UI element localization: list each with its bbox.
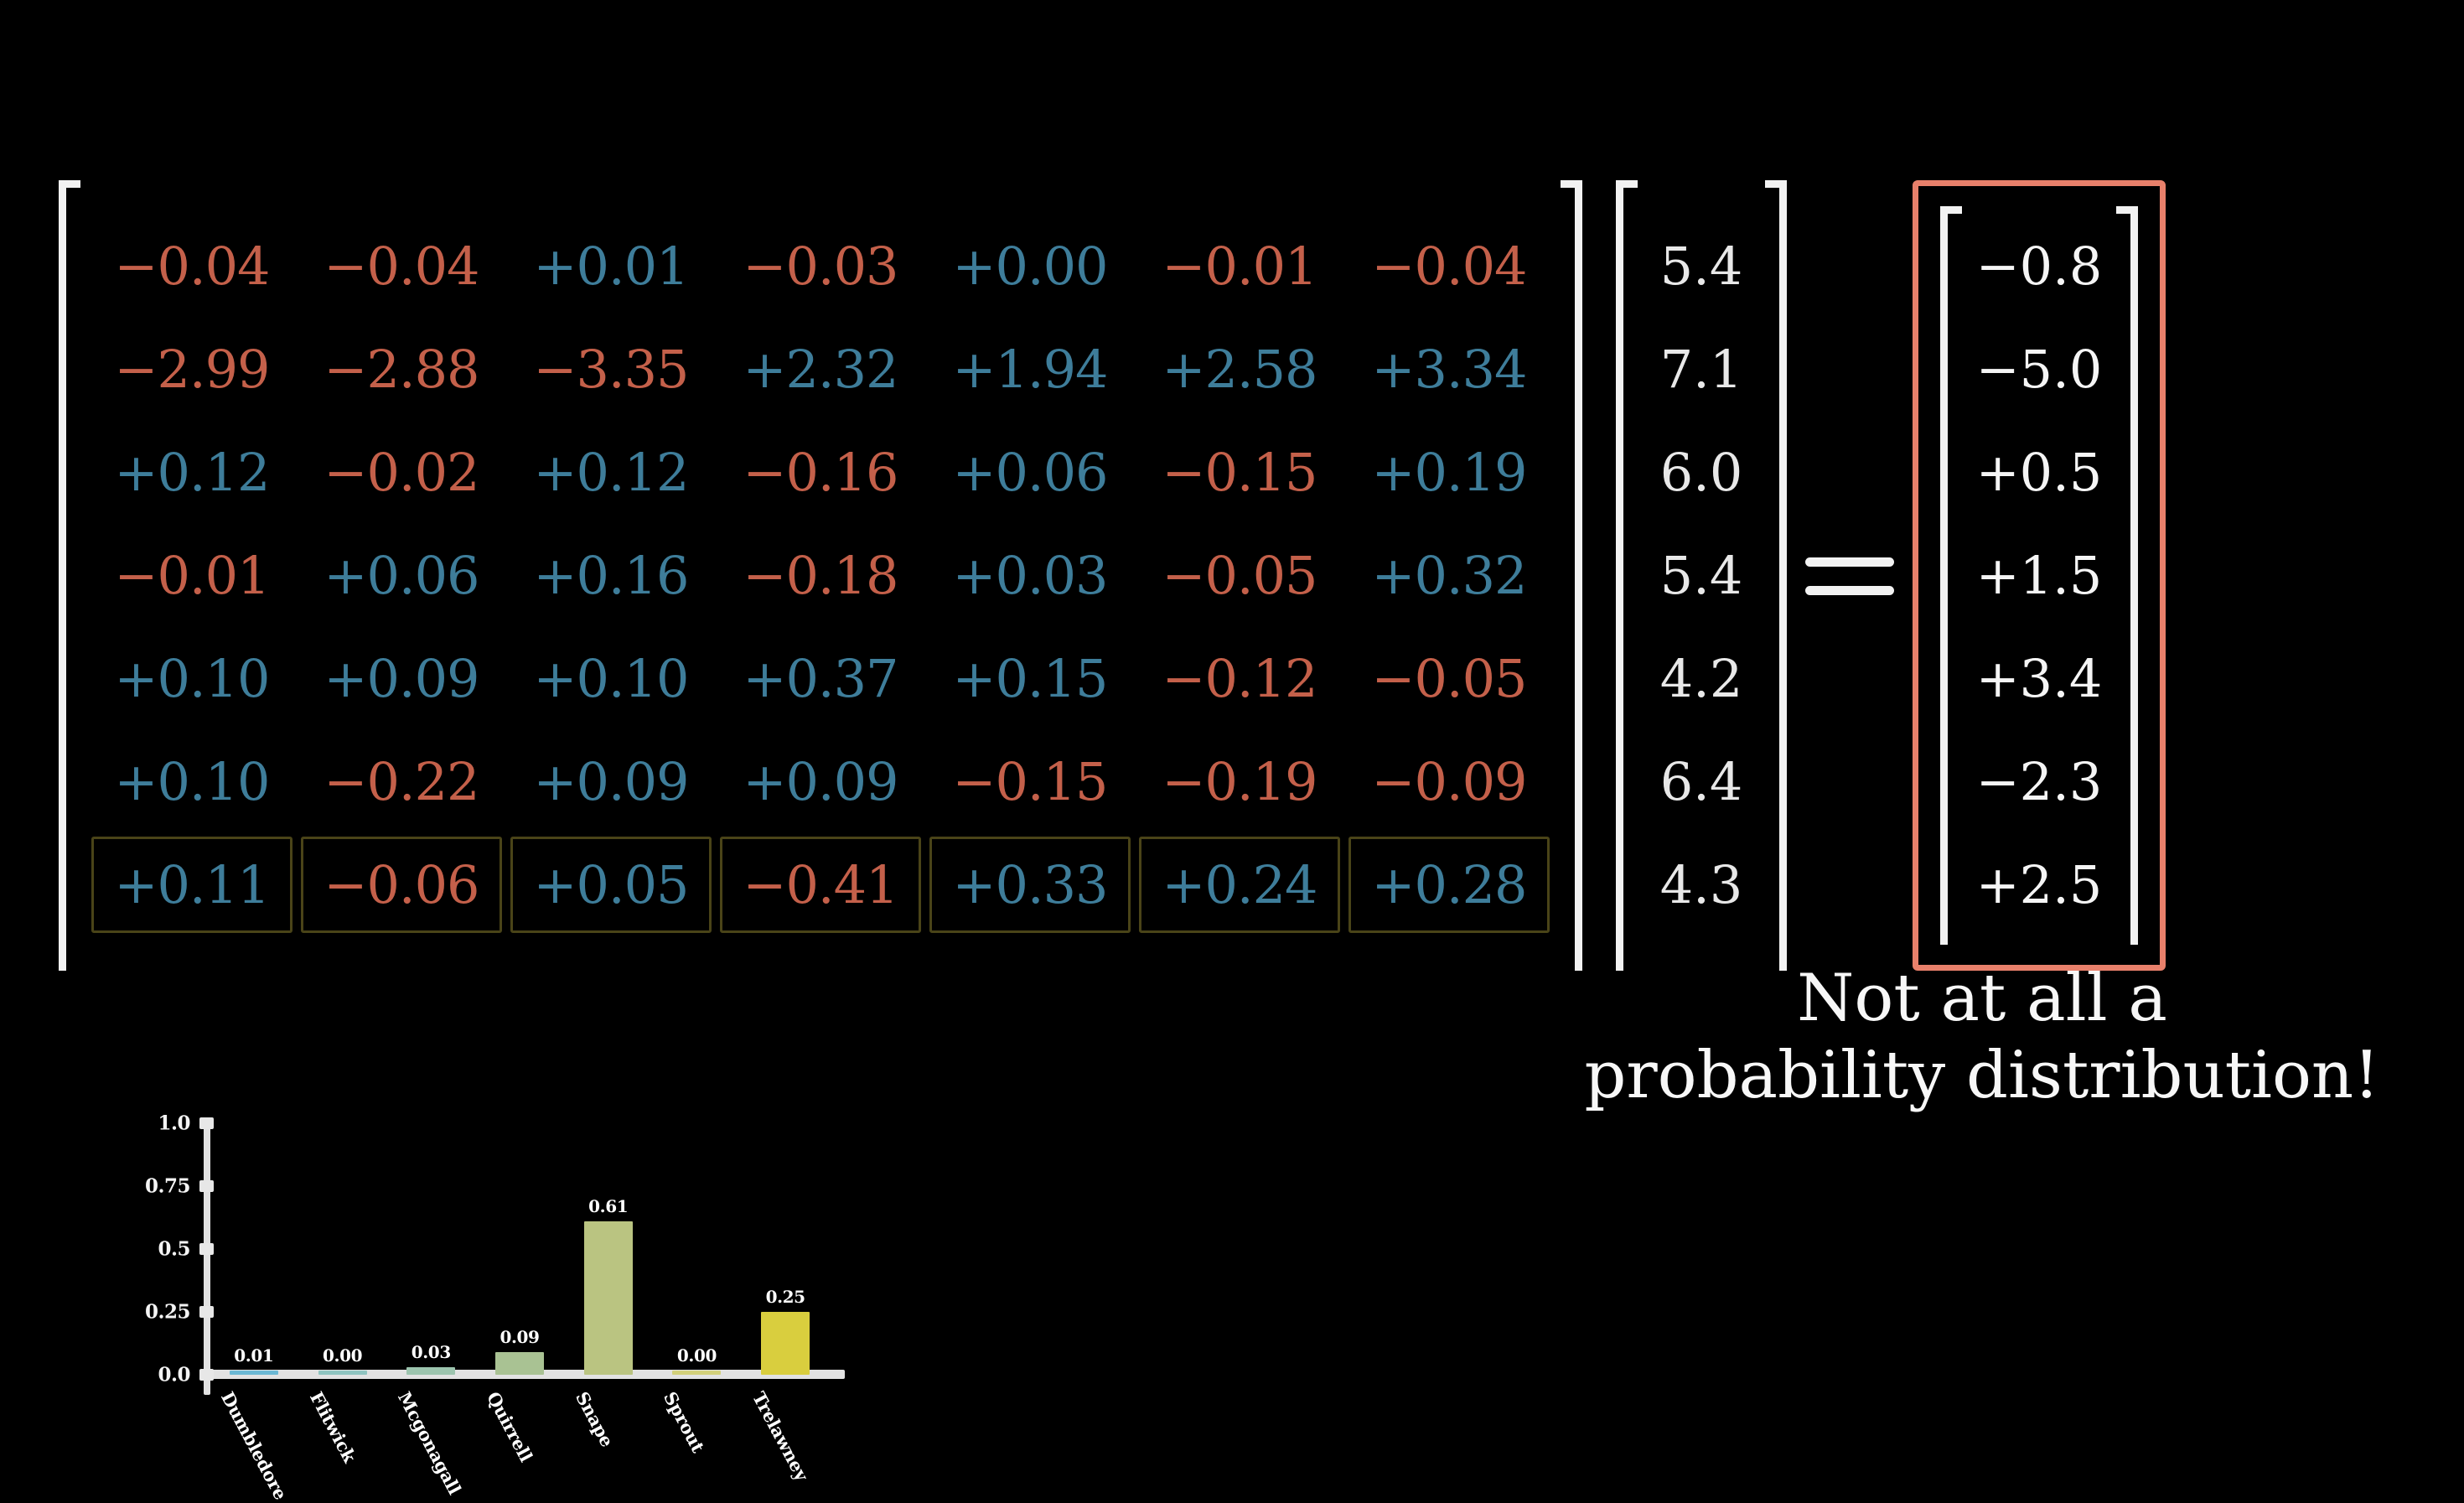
y-axis-label: 0.5: [80, 1238, 190, 1261]
caption-line-2: probability distribution!: [1500, 1037, 2464, 1114]
x-axis-label: Snape: [572, 1388, 618, 1450]
bar: [761, 1312, 810, 1375]
y-axis-tick: [199, 1117, 214, 1129]
matrix-right-bracket: [1561, 180, 1582, 971]
result-vector: −0.8−5.0+0.5+1.5+3.4−2.3+2.5: [1962, 206, 2116, 945]
bar-value-label: 0.09: [482, 1327, 557, 1347]
matrix-cell: +0.15: [925, 627, 1135, 730]
matrix-cell: +1.94: [925, 318, 1135, 421]
probability-bar-chart: 0.00.250.50.751.00.01Dumbledore0.00Flitw…: [80, 1107, 834, 1459]
matrix-cell: −0.15: [1135, 421, 1344, 524]
y-axis-tick: [199, 1180, 214, 1192]
vector-cell: 5.4: [1643, 524, 1760, 627]
result-cell: +1.5: [1967, 524, 2111, 627]
result-cell: +0.5: [1967, 421, 2111, 524]
bar-value-label: 0.00: [659, 1345, 734, 1366]
matrix-cell: −0.22: [297, 730, 506, 833]
matrix-cell: −0.19: [1135, 730, 1344, 833]
vector-left-bracket: [1616, 180, 1638, 971]
bar: [406, 1367, 455, 1375]
caption-line-1: Not at all a: [1500, 960, 2464, 1037]
matrix-cell: +0.19: [1344, 421, 1554, 524]
matrix-cell: −0.16: [716, 421, 925, 524]
equals-bar-top: [1805, 557, 1894, 567]
matrix-cell: +3.34: [1344, 318, 1554, 421]
matrix-cell: +0.01: [506, 215, 716, 318]
matrix-cell: +0.12: [87, 421, 297, 524]
caption: Not at all a probability distribution!: [1500, 960, 2464, 1114]
matrix-cell: −0.04: [87, 215, 297, 318]
matrix-cell: −0.18: [716, 524, 925, 627]
vector-cell: 4.3: [1643, 833, 1760, 936]
y-axis-tick: [199, 1369, 214, 1381]
matrix-cell: −0.02: [297, 421, 506, 524]
vector-right-bracket: [1765, 180, 1787, 971]
matrix-cell: −2.88: [297, 318, 506, 421]
x-axis-label: Mcgonagall: [394, 1388, 465, 1498]
matrix-cell: +0.32: [1344, 524, 1554, 627]
matrix-cell: +2.58: [1135, 318, 1344, 421]
x-axis-label: Dumbledore: [217, 1388, 292, 1503]
matrix-cell: +0.09: [716, 730, 925, 833]
y-axis-tick: [199, 1243, 214, 1255]
matrix-cell: −0.05: [1135, 524, 1344, 627]
result-cell: −5.0: [1967, 318, 2111, 421]
matrix-cell: +0.12: [506, 421, 716, 524]
weight-matrix: −0.04−0.04+0.01−0.03+0.00−0.01−0.04−2.99…: [80, 206, 1561, 945]
x-axis-label: Quirrell: [483, 1388, 537, 1465]
y-axis-label: 0.0: [80, 1364, 190, 1386]
matrix-cell: −0.41: [720, 837, 921, 933]
matrix-cell: +2.32: [716, 318, 925, 421]
vector-cell: 4.2: [1643, 627, 1760, 730]
matrix-cell: +0.06: [297, 524, 506, 627]
matrix-cell: −0.01: [87, 524, 297, 627]
input-vector: 5.47.16.05.44.26.44.3: [1638, 206, 1765, 945]
vector-cell: 6.0: [1643, 421, 1760, 524]
y-axis-tick: [199, 1306, 214, 1318]
matrix-cell: −0.04: [297, 215, 506, 318]
y-axis-label: 0.75: [80, 1175, 190, 1198]
bar: [495, 1352, 544, 1375]
matrix-cell: −0.12: [1135, 627, 1344, 730]
bar-value-label: 0.61: [571, 1196, 646, 1216]
equals-bar-bottom: [1805, 586, 1894, 595]
matrix-cell: −0.01: [1135, 215, 1344, 318]
matrix-cell: +0.09: [297, 627, 506, 730]
matrix-cell: −3.35: [506, 318, 716, 421]
result-right-bracket: [2116, 206, 2138, 945]
matrix-cell: +0.28: [1348, 837, 1550, 933]
equals-sign: [1787, 551, 1913, 601]
matrix-cell: −0.05: [1344, 627, 1554, 730]
matrix-cell: −0.09: [1344, 730, 1554, 833]
result-cell: +2.5: [1967, 833, 2111, 936]
vector-cell: 5.4: [1643, 215, 1760, 318]
matrix-cell: +0.00: [925, 215, 1135, 318]
matrix-cell: +0.03: [925, 524, 1135, 627]
y-axis-label: 0.25: [80, 1301, 190, 1324]
matrix-cell: +0.37: [716, 627, 925, 730]
matrix-cell: +0.10: [87, 730, 297, 833]
matrix-cell: +0.10: [87, 627, 297, 730]
y-axis-label: 1.0: [80, 1112, 190, 1135]
matrix-cell: −0.04: [1344, 215, 1554, 318]
matrix-cell: +0.05: [510, 837, 712, 933]
result-cell: −0.8: [1967, 215, 2111, 318]
matrix-cell: +0.24: [1139, 837, 1340, 933]
bar: [672, 1371, 721, 1375]
x-axis-label: Sprout: [660, 1388, 709, 1456]
vector-cell: 6.4: [1643, 730, 1760, 833]
matrix-cell: −0.15: [925, 730, 1135, 833]
matrix-cell: +0.16: [506, 524, 716, 627]
result-highlight-box: −0.8−5.0+0.5+1.5+3.4−2.3+2.5: [1913, 180, 2166, 971]
matrix-cell: +0.06: [925, 421, 1135, 524]
bar: [230, 1371, 278, 1375]
bar: [584, 1221, 633, 1375]
result-cell: +3.4: [1967, 627, 2111, 730]
equation-row: −0.04−0.04+0.01−0.03+0.00−0.01−0.04−2.99…: [59, 180, 2166, 971]
bar-value-label: 0.01: [216, 1345, 292, 1366]
matrix-cell: +0.33: [929, 837, 1131, 933]
x-axis-label: Flitwick: [305, 1388, 360, 1466]
vector-cell: 7.1: [1643, 318, 1760, 421]
x-axis-label: Trelawney: [748, 1388, 813, 1484]
matrix-cell: −2.99: [87, 318, 297, 421]
bar: [318, 1371, 367, 1375]
result-cell: −2.3: [1967, 730, 2111, 833]
matrix-cell: +0.09: [506, 730, 716, 833]
matrix-cell: −0.06: [301, 837, 502, 933]
bar-value-label: 0.25: [748, 1287, 823, 1307]
result-left-bracket: [1940, 206, 1962, 945]
matrix-equation: −0.04−0.04+0.01−0.03+0.00−0.01−0.04−2.99…: [0, 0, 2464, 964]
matrix-left-bracket: [59, 180, 80, 971]
matrix-cell: +0.11: [91, 837, 292, 933]
matrix-cell: +0.10: [506, 627, 716, 730]
bar-value-label: 0.03: [393, 1342, 468, 1362]
bar-value-label: 0.00: [305, 1345, 380, 1366]
matrix-cell: −0.03: [716, 215, 925, 318]
